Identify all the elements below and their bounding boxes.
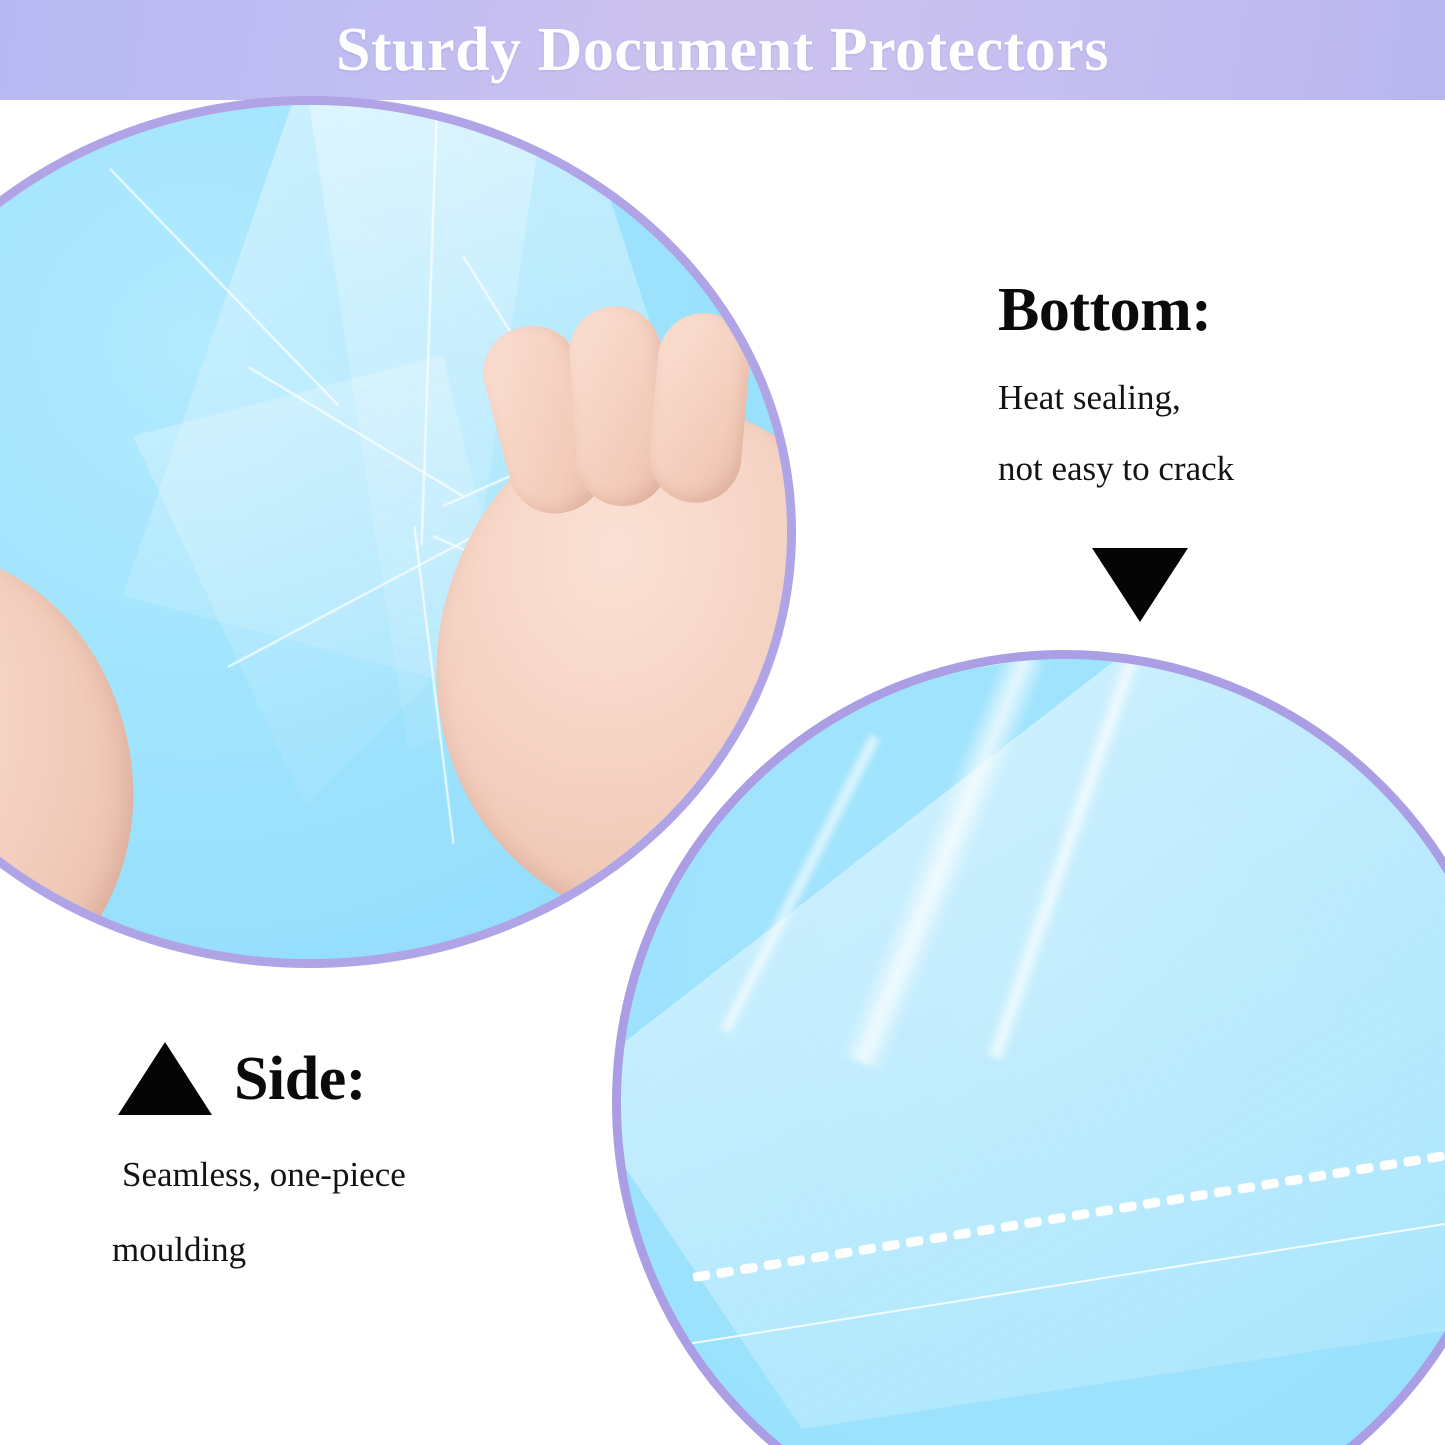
heat-seal-stitch	[1427, 1151, 1445, 1163]
feature-side-heading-row: Side:	[110, 1042, 580, 1115]
feature-side-heading: Side:	[234, 1048, 366, 1110]
infographic-canvas: Sturdy Document Protectors	[0, 0, 1445, 1445]
heat-seal-stitch	[953, 1228, 971, 1240]
heat-seal-stitch	[1166, 1193, 1184, 1205]
header-banner: Sturdy Document Protectors	[0, 0, 1445, 100]
heat-seal-stitch	[1119, 1201, 1137, 1213]
heat-seal-stitch	[1332, 1166, 1350, 1178]
heat-seal-stitch	[787, 1254, 805, 1266]
heat-seal-stitch	[1308, 1170, 1326, 1182]
heat-seal-stitch	[834, 1247, 852, 1259]
photo-bottom-right-content	[621, 659, 1445, 1445]
heat-seal-stitch	[1048, 1212, 1066, 1224]
feature-bottom-line-2: not easy to crack	[998, 451, 1418, 486]
heat-seal-stitch	[1379, 1159, 1397, 1171]
heat-seal-stitch	[740, 1262, 758, 1274]
heat-seal-stitch	[1071, 1208, 1089, 1220]
heat-seal-stitch	[1403, 1155, 1421, 1167]
page-title: Sturdy Document Protectors	[0, 0, 1445, 100]
photo-circle-bottom-right	[612, 650, 1445, 1445]
heat-seal-stitch	[977, 1224, 995, 1236]
heat-seal-stitch	[858, 1243, 876, 1255]
triangle-up-icon	[118, 1042, 212, 1115]
heat-seal-stitch	[906, 1235, 924, 1247]
heat-seal-stitch	[1285, 1174, 1303, 1186]
heat-seal-stitch	[1024, 1216, 1042, 1228]
heat-seal-stitch	[811, 1251, 829, 1263]
feature-bottom-heading: Bottom:	[998, 278, 1418, 344]
feature-bottom-block: Bottom: Heat sealing, not easy to crack	[998, 278, 1418, 486]
feature-side-line-2: moulding	[112, 1232, 580, 1267]
heat-seal-stitch	[1000, 1220, 1018, 1232]
heat-seal-stitch	[1261, 1178, 1279, 1190]
feature-side-line-1: Seamless, one-piece	[122, 1157, 580, 1192]
heat-seal-stitch	[1142, 1197, 1160, 1209]
heat-seal-stitch	[763, 1258, 781, 1270]
heat-seal-stitch	[929, 1231, 947, 1243]
finger	[646, 309, 754, 506]
heat-seal-stitch	[1213, 1185, 1231, 1197]
heat-seal-stitch	[1356, 1162, 1374, 1174]
feature-bottom-line-1: Heat sealing,	[998, 380, 1418, 415]
heat-seal-stitch	[882, 1239, 900, 1251]
heat-seal-stitch	[1237, 1182, 1255, 1194]
heat-seal-stitch	[692, 1270, 710, 1282]
heat-seal-stitch	[716, 1266, 734, 1278]
triangle-down-icon	[1092, 548, 1188, 622]
heat-seal-stitch	[1190, 1189, 1208, 1201]
heat-seal-stitch	[1095, 1205, 1113, 1217]
feature-side-block: Side: Seamless, one-piece moulding	[110, 1042, 580, 1267]
clear-document-protector	[621, 659, 1445, 1429]
